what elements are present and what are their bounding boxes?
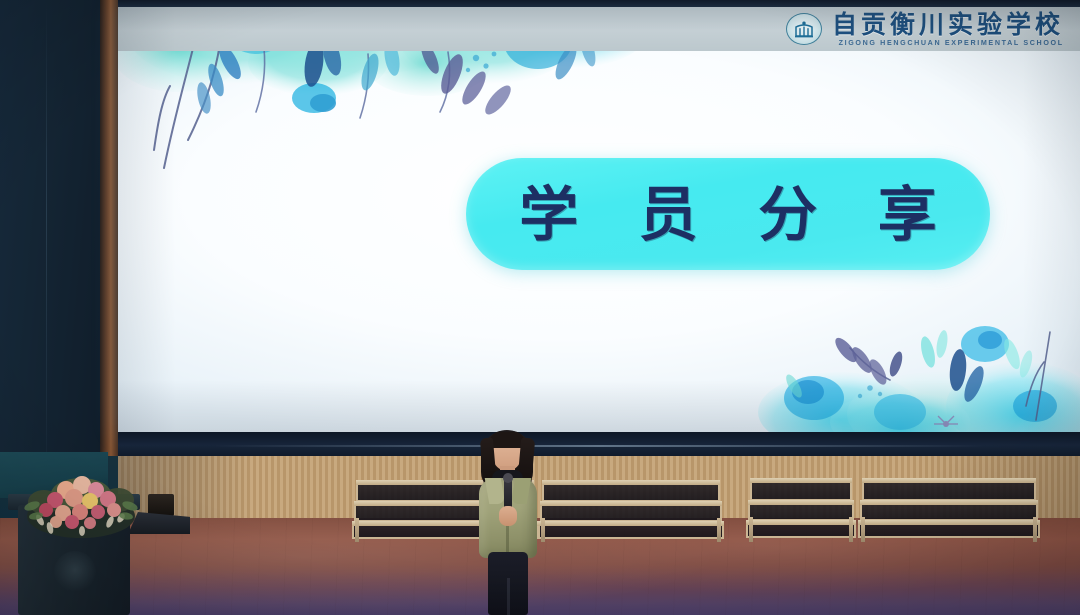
school-logo: 自贡衡川实验学校 ZIGONG HENGCHUAN EXPERIMENTAL S… <box>786 12 1064 47</box>
choir-riser-4 <box>858 478 1040 542</box>
choir-riser-3 <box>746 478 856 542</box>
school-emblem-icon <box>786 13 822 45</box>
auditorium-stage-photo: 学 员 分 享 自贡衡川实验学校 ZIGONG HENGCH <box>0 0 1080 615</box>
presenter-hands <box>499 506 517 526</box>
presenter-pants <box>488 552 528 615</box>
presenter <box>455 428 559 615</box>
slide-title-pill: 学 员 分 享 <box>466 158 990 270</box>
left-wood-trim <box>100 0 118 470</box>
school-wordmark: 自贡衡川实验学校 ZIGONG HENGCHUAN EXPERIMENTAL S… <box>832 12 1064 47</box>
projection-screen: 学 员 分 享 自贡衡川实验学校 ZIGONG HENGCH <box>118 0 1080 432</box>
school-name-en: ZIGONG HENGCHUAN EXPERIMENTAL SCHOOL <box>839 40 1064 47</box>
slide-header-band: 自贡衡川实验学校 ZIGONG HENGCHUAN EXPERIMENTAL S… <box>118 7 1080 51</box>
slide-title: 学 员 分 享 <box>499 185 957 244</box>
screen-top-bezel <box>118 0 1080 7</box>
flower-arrangement-icon <box>22 470 140 540</box>
stage-speaker-box <box>148 494 174 516</box>
school-name-cn: 自贡衡川实验学校 <box>832 12 1064 37</box>
left-wall-panel <box>0 0 100 470</box>
screen-lower-bezel <box>118 432 1080 456</box>
emblem-glyph-icon <box>793 20 815 38</box>
choir-riser-2 <box>538 480 724 542</box>
